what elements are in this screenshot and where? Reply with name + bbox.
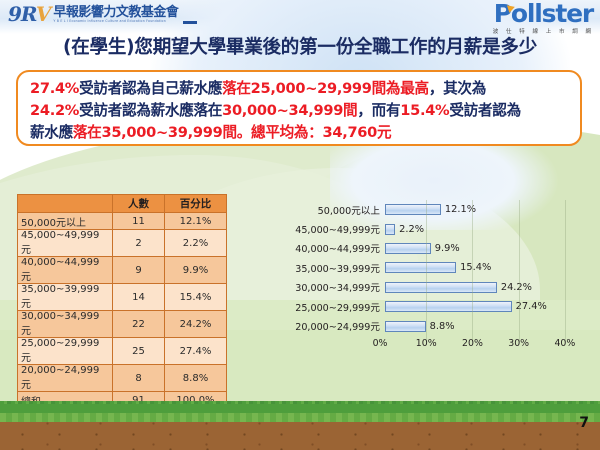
chart-value-label: 27.4% — [516, 301, 547, 312]
table-row: 45,000~49,999元22.2% — [18, 230, 227, 257]
foundation-logo-mark: 9RV — [8, 4, 50, 24]
foundation-name-cn: 早報影響力文教基金會 — [53, 6, 178, 19]
bar-chart: 50,000元以上12.1%45,000~49,999元2.2%40,000~4… — [288, 200, 588, 360]
chart-value-label: 24.2% — [501, 282, 532, 293]
pollster-logo: Pollster 波 仕 特 線 上 市 調 網 — [493, 1, 594, 35]
chart-bar-row: 35,000~39,999元15.4% — [288, 258, 588, 277]
chart-bar-row: 25,000~29,999元27.4% — [288, 297, 588, 316]
table-header-percent: 百分比 — [165, 195, 227, 213]
table-header-label — [18, 195, 113, 213]
summary-line-3: 薪水應落在35,000~39,999間。總平均為：34,760元 — [30, 122, 570, 144]
chart-bar — [385, 243, 431, 254]
chart-x-tick: 0% — [373, 338, 388, 349]
table-cell-label: 45,000~49,999元 — [18, 230, 113, 257]
table-body: 50,000元以上1112.1%45,000~49,999元22.2%40,00… — [18, 213, 227, 409]
table-cell-count: 22 — [113, 311, 165, 338]
table-cell-count: 14 — [113, 284, 165, 311]
table-head: 人數 百分比 — [18, 195, 227, 213]
summary-line-1: 27.4%受訪者認為自己薪水應落在25,000~29,999間為最高，其次為 — [30, 78, 570, 100]
chart-category-label: 20,000~24,999元 — [288, 319, 385, 333]
table-cell-label: 25,000~29,999元 — [18, 338, 113, 365]
chart-category-label: 45,000~49,999元 — [288, 222, 385, 236]
chart-bar — [385, 262, 456, 273]
table-header-row: 人數 百分比 — [18, 195, 227, 213]
chart-bar — [385, 301, 512, 312]
table-cell-percent: 9.9% — [165, 257, 227, 284]
slide-canvas: 9RV 早報影響力文教基金會 Y B E L I Economic Influe… — [0, 0, 600, 450]
chart-category-label: 25,000~29,999元 — [288, 300, 385, 314]
chart-bar-track: 9.9% — [385, 239, 588, 258]
chart-value-label: 2.2% — [399, 224, 424, 235]
summary-callout: 27.4%受訪者認為自己薪水應落在25,000~29,999間為最高，其次為 2… — [16, 70, 582, 146]
chart-bar-row: 40,000~44,999元9.9% — [288, 239, 588, 258]
foundation-logo-mark-text: 9R — [8, 2, 36, 26]
chart-bar — [385, 224, 395, 235]
table-row: 20,000~24,999元88.8% — [18, 365, 227, 392]
chart-bar-row: 20,000~24,999元8.8% — [288, 316, 588, 335]
foundation-name-en: Y B E L I Economic Influence Culture and… — [53, 20, 178, 23]
table-row: 30,000~34,999元2224.2% — [18, 311, 227, 338]
table-row: 40,000~44,999元99.9% — [18, 257, 227, 284]
chart-bar — [385, 321, 426, 332]
table-cell-count: 2 — [113, 230, 165, 257]
chart-value-label: 8.8% — [430, 321, 455, 332]
chart-bar-track: 2.2% — [385, 219, 588, 238]
table-cell-count: 8 — [113, 365, 165, 392]
table-cell-label: 35,000~39,999元 — [18, 284, 113, 311]
chart-x-tick: 30% — [508, 338, 529, 349]
chart-bar-row: 30,000~34,999元24.2% — [288, 278, 588, 297]
table-cell-percent: 12.1% — [165, 213, 227, 230]
data-table: 人數 百分比 50,000元以上1112.1%45,000~49,999元22.… — [17, 194, 227, 409]
chart-value-label: 12.1% — [445, 204, 476, 215]
table-row: 50,000元以上1112.1% — [18, 213, 227, 230]
table-cell-count: 9 — [113, 257, 165, 284]
chart-x-tick: 40% — [554, 338, 575, 349]
table-cell-label: 20,000~24,999元 — [18, 365, 113, 392]
table-header-count: 人數 — [113, 195, 165, 213]
chart-category-label: 40,000~44,999元 — [288, 241, 385, 255]
chart-x-tick: 10% — [416, 338, 437, 349]
table-cell-label: 50,000元以上 — [18, 213, 113, 230]
foundation-logo-accent: V — [36, 2, 51, 26]
chart-bar-row: 50,000元以上12.1% — [288, 200, 588, 219]
chart-bar-track: 8.8% — [385, 316, 588, 335]
chart-x-tick: 20% — [462, 338, 483, 349]
table-cell-percent: 15.4% — [165, 284, 227, 311]
table-cell-label: 30,000~34,999元 — [18, 311, 113, 338]
foundation-logo-bar — [183, 21, 197, 24]
foundation-logo-words: 早報影響力文教基金會 Y B E L I Economic Influence … — [53, 6, 178, 24]
chart-category-label: 50,000元以上 — [288, 203, 385, 217]
table-cell-percent: 2.2% — [165, 230, 227, 257]
chart-category-label: 35,000~39,999元 — [288, 261, 385, 275]
chart-category-label: 30,000~34,999元 — [288, 280, 385, 294]
table-cell-count: 25 — [113, 338, 165, 365]
chart-value-label: 9.9% — [435, 243, 460, 254]
pollster-wordmark: Pollster — [493, 1, 594, 26]
summary-line-2: 24.2%受訪者認為薪水應落在30,000~34,999間，而有15.4%受訪者… — [30, 100, 570, 122]
grass-highlight — [0, 413, 600, 422]
chart-value-label: 15.4% — [460, 262, 491, 273]
table-row: 35,000~39,999元1415.4% — [18, 284, 227, 311]
chart-bar-row: 45,000~49,999元2.2% — [288, 219, 588, 238]
table-cell-percent: 27.4% — [165, 338, 227, 365]
chart-bar-track: 15.4% — [385, 258, 588, 277]
soil-speckles — [0, 422, 600, 450]
chart-bar-track: 12.1% — [385, 200, 588, 219]
chart-bar — [385, 204, 441, 215]
table-row: 25,000~29,999元2527.4% — [18, 338, 227, 365]
chart-rows: 50,000元以上12.1%45,000~49,999元2.2%40,000~4… — [288, 200, 588, 336]
chart-x-axis: 0%10%20%30%40% — [380, 336, 588, 352]
page-number: 7 — [579, 415, 589, 431]
table-cell-count: 11 — [113, 213, 165, 230]
table-cell-label: 40,000~44,999元 — [18, 257, 113, 284]
foundation-logo: 9RV 早報影響力文教基金會 Y B E L I Economic Influe… — [8, 4, 197, 24]
chart-bar — [385, 282, 497, 293]
page-title: (在學生)您期望大學畢業後的第一份全職工作的月薪是多少 — [0, 33, 600, 59]
chart-bar-track: 24.2% — [385, 278, 588, 297]
chart-bar-track: 27.4% — [385, 297, 588, 316]
table-cell-percent: 8.8% — [165, 365, 227, 392]
table-cell-percent: 24.2% — [165, 311, 227, 338]
